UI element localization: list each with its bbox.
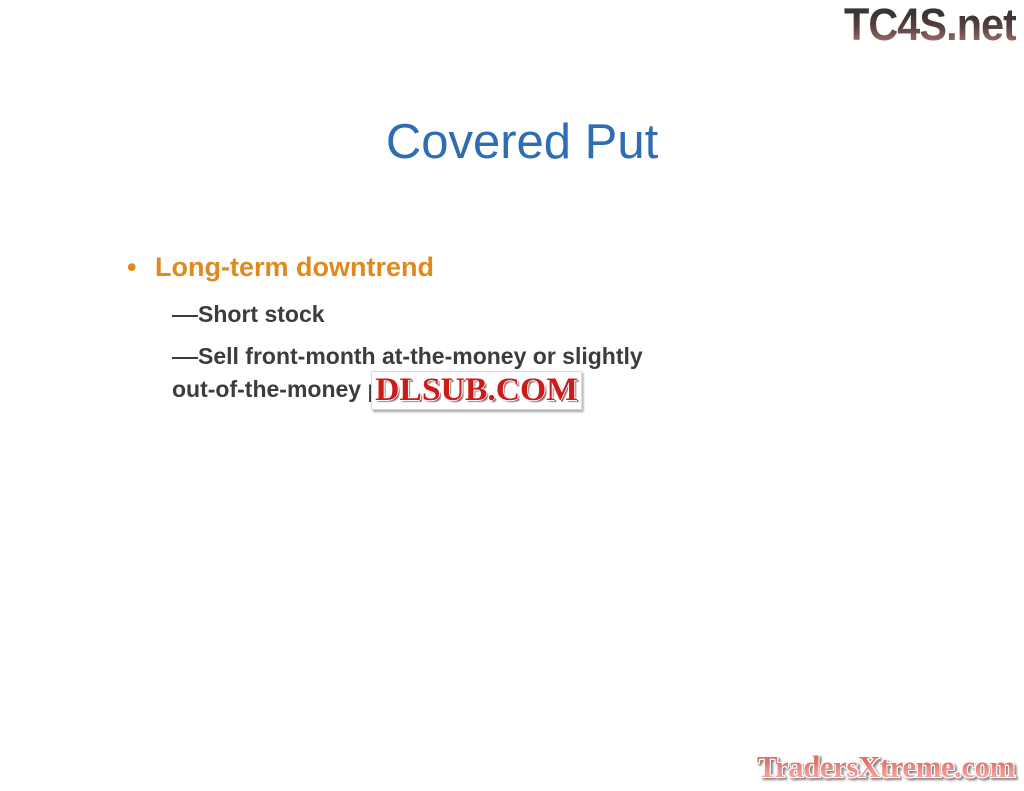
em-dash-icon bbox=[172, 315, 198, 317]
tc4s-brand-logo: TC4S.net bbox=[844, 1, 1016, 49]
slide-canvas: TC4S.net Covered Put • Long-term downtre… bbox=[0, 0, 1024, 791]
bullet-dot-icon: • bbox=[127, 247, 136, 287]
bullet-level2-item: Short stock bbox=[0, 298, 1024, 331]
bullet-level1: • Long-term downtrend bbox=[0, 247, 1024, 287]
tradersxtreme-watermark: TradersXtreme.com bbox=[757, 750, 1015, 784]
em-dash-icon bbox=[172, 357, 198, 359]
bullet-level2-label: Short stock bbox=[198, 301, 325, 327]
bullet-level1-label: Long-term downtrend bbox=[155, 252, 434, 282]
dlsub-watermark: DLSUB.COM bbox=[371, 371, 582, 410]
page-title: Covered Put bbox=[0, 113, 1024, 171]
